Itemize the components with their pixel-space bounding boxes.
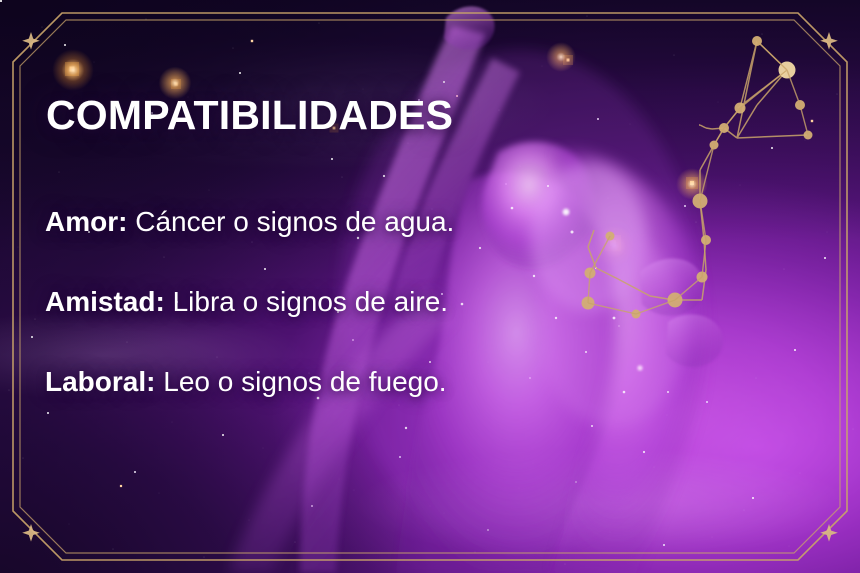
compatibility-value-laboral: Leo o signos de fuego.: [163, 366, 446, 397]
compatibility-row-laboral: Laboral: Leo o signos de fuego.: [45, 368, 447, 396]
compatibility-row-amor: Amor: Cáncer o signos de agua.: [45, 208, 454, 236]
compatibility-row-amistad: Amistad: Libra o signos de aire.: [45, 288, 448, 316]
compatibility-label-amistad: Amistad:: [45, 286, 165, 317]
page-title: COMPATIBILIDADES: [46, 95, 453, 136]
compatibility-value-amistad: Libra o signos de aire.: [173, 286, 449, 317]
compatibility-value-amor: Cáncer o signos de agua.: [135, 206, 454, 237]
compatibility-label-amor: Amor:: [45, 206, 127, 237]
card-content: COMPATIBILIDADES Amor: Cáncer o signos d…: [0, 0, 860, 573]
horoscope-compatibility-card: COMPATIBILIDADES Amor: Cáncer o signos d…: [0, 0, 860, 573]
compatibility-label-laboral: Laboral:: [45, 366, 155, 397]
